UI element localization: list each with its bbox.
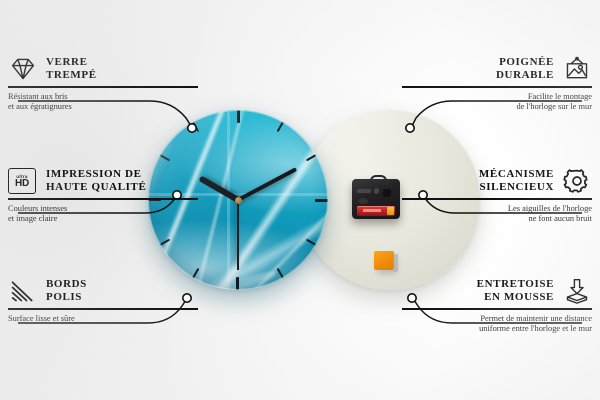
ultra-hd-icon-main-text: HD — [15, 179, 29, 189]
diamond-icon — [8, 56, 38, 82]
feature-title-line1: POIGNÉE — [496, 56, 554, 69]
feature-entretoise-en-mousse: ENTRETOISE EN MOUSSE Permet de maintenir… — [402, 278, 592, 335]
feature-title-line1: BORDS — [46, 278, 87, 291]
mechanism-body — [352, 179, 400, 219]
feature-desc-line2: et aux égratignures — [8, 102, 198, 113]
clock-mechanism — [352, 175, 400, 219]
divider — [8, 198, 198, 200]
feature-title-line1: MÉCANISME — [479, 168, 554, 181]
feature-desc-line1: Surface lisse et sûre — [8, 314, 198, 325]
feature-title-line2: DURABLE — [496, 69, 554, 82]
feature-desc-line1: Facilite le montage — [402, 92, 592, 103]
divider — [402, 86, 592, 88]
feature-desc-line1: Résistant aux bris — [8, 92, 198, 103]
feature-title-line1: IMPRESSION DE — [46, 168, 146, 181]
ultra-hd-icon: ultra HD — [8, 168, 38, 194]
feature-poignee-durable: POIGNÉE DURABLE Facilite le montage de l… — [402, 56, 592, 113]
battery — [357, 206, 395, 216]
feature-desc-line2: uniforme entre l'horloge et le mur — [402, 324, 592, 335]
feature-title-line2: EN MOUSSE — [477, 291, 554, 304]
foam-spacer — [374, 251, 394, 270]
feature-desc-line1: Les aiguilles de l'horloge — [402, 204, 592, 215]
feature-title-line2: POLIS — [46, 291, 87, 304]
polished-edges-icon — [8, 278, 38, 304]
feature-desc-line2: et image claire — [8, 214, 198, 225]
feature-desc-line1: Permet de maintenir une distance — [402, 314, 592, 325]
divider — [402, 308, 592, 310]
feature-title-line1: VERRE — [46, 56, 97, 69]
feature-title-line2: HAUTE QUALITÉ — [46, 181, 146, 194]
feature-title-line2: SILENCIEUX — [479, 181, 554, 194]
feature-verre-trempe: VERRE TREMPÉ Résistant aux bris et aux é… — [8, 56, 198, 113]
hanging-frame-icon — [562, 56, 592, 82]
feature-bords-polis: BORDS POLIS Surface lisse et sûre — [8, 278, 198, 324]
feature-desc-line2: ne font aucun bruit — [402, 214, 592, 225]
divider — [8, 86, 198, 88]
divider — [8, 308, 198, 310]
gear-icon — [562, 168, 592, 194]
feature-impression-haute-qualite: ultra HD IMPRESSION DE HAUTE QUALITÉ Cou… — [8, 168, 198, 225]
foam-spacer-icon — [562, 278, 592, 304]
feature-desc-line2: de l'horloge sur le mur — [402, 102, 592, 113]
feature-desc-line1: Couleurs intenses — [8, 204, 198, 215]
infographic-canvas: VERRE TREMPÉ Résistant aux bris et aux é… — [0, 0, 600, 400]
feature-mecanisme-silencieux: MÉCANISME SILENCIEUX Les aiguilles de l'… — [402, 168, 592, 225]
feature-title-line2: TREMPÉ — [46, 69, 97, 82]
divider — [402, 198, 592, 200]
feature-title-line1: ENTRETOISE — [477, 278, 554, 291]
